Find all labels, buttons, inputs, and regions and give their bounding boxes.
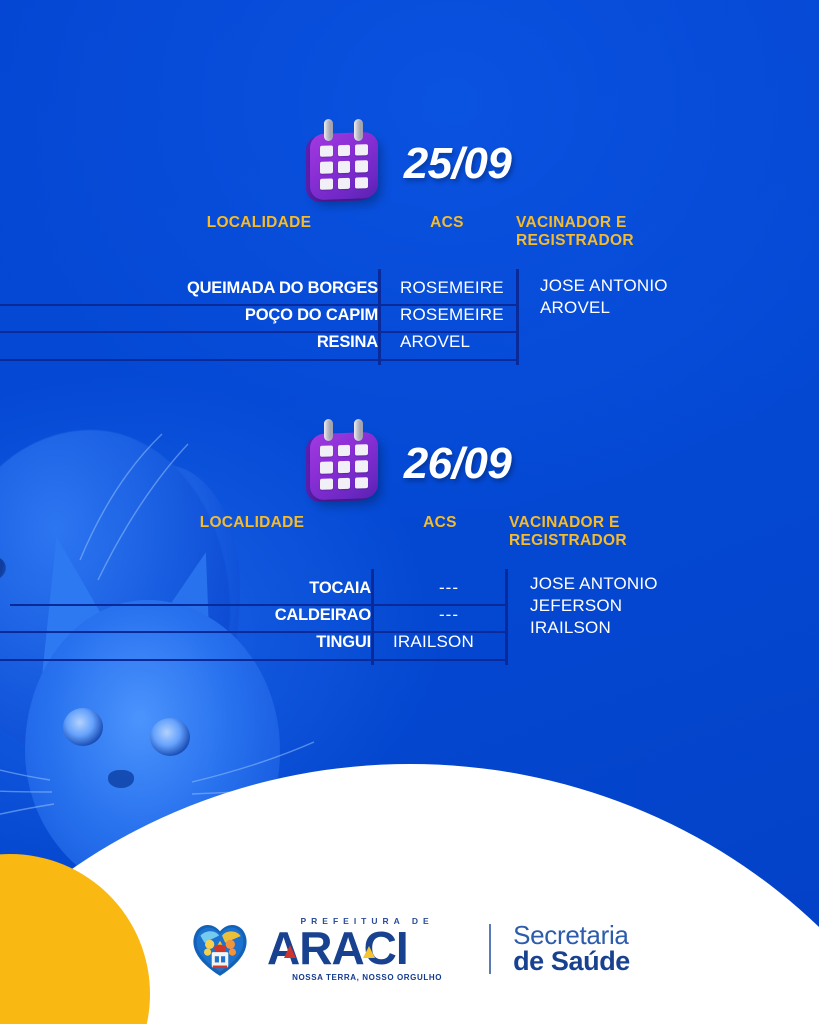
table-row: POÇO DO CAPIM ROSEMEIRE xyxy=(140,302,819,329)
calendar-ring-right xyxy=(354,119,363,141)
calendar-icon xyxy=(308,127,382,201)
header-localidade-2: LOCALIDADE xyxy=(133,514,371,551)
cell-localidade: TOCAIA xyxy=(133,579,380,598)
vacinador-list-2: JOSE ANTONIO JEFERSON IRAILSON xyxy=(530,573,658,640)
table-vline-left-1 xyxy=(378,269,381,365)
date-row-1: 25/09 xyxy=(0,118,819,210)
table-hline-3-2 xyxy=(0,659,505,661)
poster-content: 25/09 LOCALIDADE ACS VACINADOR E REGISTR… xyxy=(0,0,819,1024)
cell-acs: --- xyxy=(380,605,518,625)
table-body-2: TOCAIA --- CALDEIRAO --- TINGUI IRAILSON… xyxy=(0,551,819,667)
cell-acs: --- xyxy=(380,578,518,598)
calendar-ring-left xyxy=(324,119,333,141)
table-vline-right-2 xyxy=(505,569,508,665)
cell-localidade: POÇO DO CAPIM xyxy=(140,306,387,325)
header-vacinador-line2-1: REGISTRADOR xyxy=(516,232,696,250)
header-acs-2: ACS xyxy=(371,514,509,551)
vacinador-list-1: JOSE ANTONIO AROVEL xyxy=(540,275,668,320)
table-row: RESINA AROVEL xyxy=(140,329,819,356)
schedule-section-1: 25/09 LOCALIDADE ACS VACINADOR E REGISTR… xyxy=(0,118,819,367)
date-row-2: 26/09 xyxy=(0,418,819,510)
table-row: TINGUI IRAILSON xyxy=(133,629,819,656)
logo-divider xyxy=(489,924,491,974)
calendar-grid xyxy=(320,444,368,490)
table-row: CALDEIRAO --- xyxy=(133,602,819,629)
table-header-row-1: LOCALIDADE ACS VACINADOR E REGISTRADOR xyxy=(0,214,819,251)
araci-wordmark: PREFEITURA DE ARACI NOSSA TERRA, NOSSO O… xyxy=(267,916,467,982)
table-row: QUEIMADA DO BORGES ROSEMEIRE xyxy=(140,275,819,302)
table-body-1: QUEIMADA DO BORGES ROSEMEIRE POÇO DO CAP… xyxy=(0,251,819,367)
cell-localidade: QUEIMADA DO BORGES xyxy=(140,279,387,298)
poster-canvas: 25/09 LOCALIDADE ACS VACINADOR E REGISTR… xyxy=(0,0,819,1024)
calendar-ring-right xyxy=(354,419,363,441)
svg-text:ARACI: ARACI xyxy=(267,927,408,971)
header-vacinador-1: VACINADOR E REGISTRADOR xyxy=(516,214,696,251)
header-acs-1: ACS xyxy=(378,214,516,251)
vacinador-name: AROVEL xyxy=(540,297,668,319)
secretaria-line1: Secretaria xyxy=(513,922,630,949)
table-header-row-2: LOCALIDADE ACS VACINADOR E REGISTRADOR xyxy=(0,514,819,551)
araci-heart-emblem-icon xyxy=(189,920,251,978)
vacinador-name: JOSE ANTONIO xyxy=(540,275,668,297)
secretaria-line2: de Saúde xyxy=(513,948,630,976)
table-hline-1-1 xyxy=(0,304,516,306)
header-localidade-1: LOCALIDADE xyxy=(140,214,378,251)
table-vline-left-2 xyxy=(371,569,374,665)
header-vacinador-2: VACINADOR E REGISTRADOR xyxy=(509,514,689,551)
header-vacinador-line1-1: VACINADOR E xyxy=(516,214,696,232)
vacinador-name: JEFERSON xyxy=(530,595,658,617)
prefeitura-label: PREFEITURA DE xyxy=(300,916,433,926)
table-hline-1-2 xyxy=(10,604,505,606)
header-vacinador-line2-2: REGISTRADOR xyxy=(509,532,689,550)
vacinador-name: IRAILSON xyxy=(530,617,658,639)
section-date-1: 25/09 xyxy=(404,139,512,189)
calendar-ring-left xyxy=(324,419,333,441)
cell-acs: IRAILSON xyxy=(380,632,531,652)
vacinador-name: JOSE ANTONIO xyxy=(530,573,658,595)
schedule-table-1: LOCALIDADE ACS VACINADOR E REGISTRADOR xyxy=(0,210,819,367)
table-row: TOCAIA --- xyxy=(133,575,819,602)
header-vacinador-line1-2: VACINADOR E xyxy=(509,514,689,532)
calendar-icon xyxy=(308,427,382,501)
footer-logo-bar: PREFEITURA DE ARACI NOSSA TERRA, NOSSO O… xyxy=(0,916,819,982)
schedule-section-2: 26/09 LOCALIDADE ACS VACINADOR E REGISTR… xyxy=(0,418,819,667)
calendar-grid xyxy=(320,144,368,190)
cell-localidade: TINGUI xyxy=(133,633,380,652)
cell-localidade: CALDEIRAO xyxy=(133,606,380,625)
cell-localidade: RESINA xyxy=(140,333,387,352)
table-hline-2-2 xyxy=(0,631,505,633)
schedule-table-2: LOCALIDADE ACS VACINADOR E REGISTRADOR T… xyxy=(0,510,819,667)
araci-city-name: ARACI xyxy=(267,927,467,971)
table-hline-2-1 xyxy=(0,331,516,333)
table-hline-3-1 xyxy=(0,359,516,361)
section-date-2: 26/09 xyxy=(404,439,512,489)
table-vline-right-1 xyxy=(516,269,519,365)
araci-motto: NOSSA TERRA, NOSSO ORGULHO xyxy=(292,973,442,982)
secretaria-wordmark: Secretaria de Saúde xyxy=(513,922,630,976)
